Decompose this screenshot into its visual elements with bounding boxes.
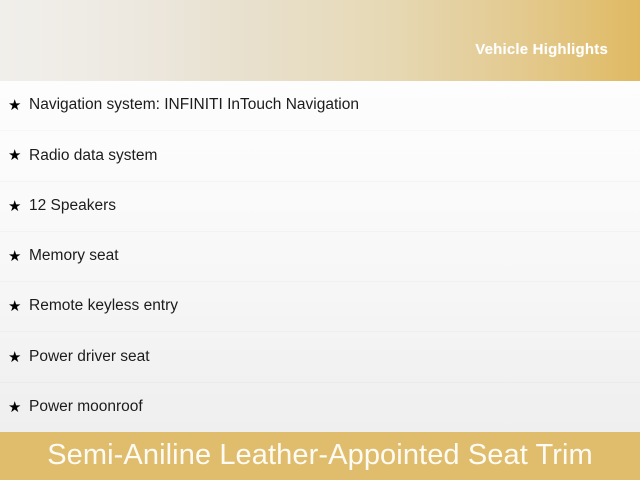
star-bullet-icon: ★: [8, 299, 29, 314]
star-bullet-icon: ★: [8, 98, 29, 113]
list-item: ★ 12 Speakers: [0, 182, 640, 232]
highlight-label: Radio data system: [29, 147, 157, 166]
list-item: ★ Memory seat: [0, 232, 640, 282]
list-item: ★ Power driver seat: [0, 332, 640, 382]
panel-footer: Semi-Aniline Leather-Appointed Seat Trim: [0, 432, 640, 480]
star-bullet-icon: ★: [8, 199, 29, 214]
vehicle-highlights-panel: Vehicle Highlights ★ Navigation system: …: [0, 0, 640, 480]
highlight-label: Navigation system: INFINITI InTouch Navi…: [29, 96, 359, 115]
star-bullet-icon: ★: [8, 249, 29, 264]
star-bullet-icon: ★: [8, 148, 29, 163]
footer-caption: Semi-Aniline Leather-Appointed Seat Trim: [47, 441, 593, 472]
list-item: ★ Navigation system: INFINITI InTouch Na…: [0, 81, 640, 131]
highlight-label: 12 Speakers: [29, 197, 116, 216]
star-bullet-icon: ★: [8, 400, 29, 415]
list-item: ★ Radio data system: [0, 131, 640, 181]
highlight-label: Remote keyless entry: [29, 297, 178, 316]
star-bullet-icon: ★: [8, 350, 29, 365]
panel-header: Vehicle Highlights: [0, 0, 640, 81]
highlight-label: Memory seat: [29, 247, 119, 266]
highlights-list: ★ Navigation system: INFINITI InTouch Na…: [0, 81, 640, 432]
highlight-label: Power driver seat: [29, 348, 150, 367]
list-item: ★ Remote keyless entry: [0, 282, 640, 332]
page-title: Vehicle Highlights: [475, 23, 640, 58]
list-item: ★ Power moonroof: [0, 383, 640, 432]
highlight-label: Power moonroof: [29, 398, 143, 417]
